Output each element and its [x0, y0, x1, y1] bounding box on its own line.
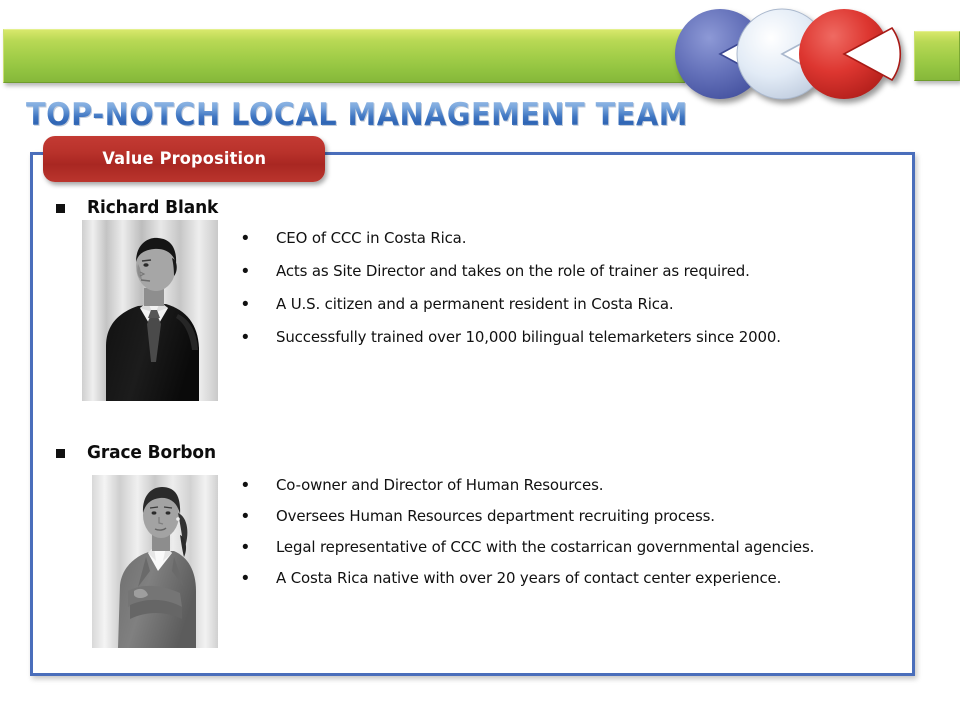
round-bullet-icon: •	[238, 292, 276, 317]
list-item-text: A Costa Rica native with over 20 years o…	[276, 566, 781, 591]
list-item: • Acts as Site Director and takes on the…	[238, 259, 898, 284]
list-item: • CEO of CCC in Costa Rica.	[238, 226, 898, 251]
list-item: • A Costa Rica native with over 20 years…	[238, 566, 898, 591]
person-photo-image	[92, 475, 218, 648]
list-item: • Legal representative of CCC with the c…	[238, 535, 898, 560]
value-proposition-label: Value Proposition	[102, 149, 266, 169]
green-header-bar	[3, 29, 685, 83]
logo-c-red	[799, 9, 900, 99]
page-title: TOP-NOTCH LOCAL MANAGEMENT TEAM	[26, 97, 688, 133]
person-name: Richard Blank	[87, 198, 218, 218]
list-item: • Successfully trained over 10,000 bilin…	[238, 325, 898, 350]
list-item-text: Acts as Site Director and takes on the r…	[276, 259, 750, 284]
person-name-row: Richard Blank	[56, 198, 222, 218]
list-item-text: Successfully trained over 10,000 bilingu…	[276, 325, 781, 350]
person-photo	[82, 220, 218, 401]
list-item-text: Oversees Human Resources department recr…	[276, 504, 715, 529]
square-bullet-icon	[56, 204, 65, 213]
list-item-text: A U.S. citizen and a permanent resident …	[276, 292, 674, 317]
round-bullet-icon: •	[238, 504, 276, 529]
list-item: • Co-owner and Director of Human Resourc…	[238, 473, 898, 498]
list-item-text: CEO of CCC in Costa Rica.	[276, 226, 466, 251]
round-bullet-icon: •	[238, 566, 276, 591]
list-item-text: Legal representative of CCC with the cos…	[276, 535, 814, 560]
person-bullet-list: • Co-owner and Director of Human Resourc…	[238, 473, 898, 597]
person-photo	[92, 475, 218, 648]
round-bullet-icon: •	[238, 226, 276, 251]
square-bullet-icon	[56, 449, 65, 458]
person-name-row: Grace Borbon	[56, 443, 220, 463]
value-proposition-badge[interactable]: Value Proposition	[43, 136, 325, 182]
slide-header-band	[0, 0, 960, 110]
list-item: • Oversees Human Resources department re…	[238, 504, 898, 529]
person-name: Grace Borbon	[87, 443, 216, 463]
round-bullet-icon: •	[238, 259, 276, 284]
list-item: • A U.S. citizen and a permanent residen…	[238, 292, 898, 317]
person-bullet-list: • CEO of CCC in Costa Rica. • Acts as Si…	[238, 226, 898, 358]
list-item-text: Co-owner and Director of Human Resources…	[276, 473, 603, 498]
round-bullet-icon: •	[238, 535, 276, 560]
person-photo-image	[82, 220, 218, 401]
round-bullet-icon: •	[238, 325, 276, 350]
ccc-logo-icon	[672, 4, 922, 104]
round-bullet-icon: •	[238, 473, 276, 498]
